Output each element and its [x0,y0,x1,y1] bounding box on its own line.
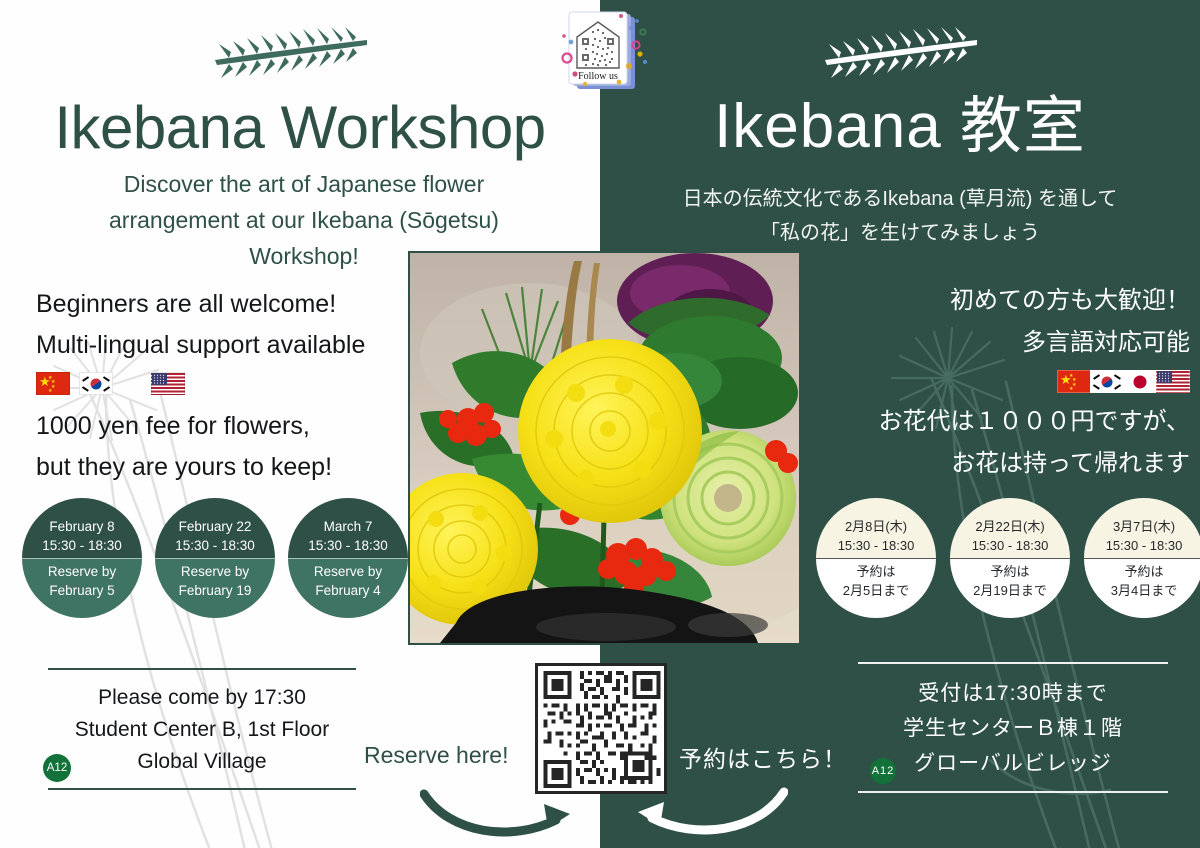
session-circle[interactable]: 2月8日(木)15:30 - 18:30 予約は2月5日まで [816,498,936,618]
session-time: 15:30 - 18:30 [838,536,915,555]
subtitle-line: arrangement at our Ikebana (Sōgetsu) [58,202,550,238]
body-line: Beginners are all welcome! [36,284,416,325]
body-line: Multi-lingual support available [36,325,416,366]
divider [155,558,275,559]
session-deadline-label: 予約は [1124,562,1163,581]
session-deadline: 3月4日まで [1111,581,1177,600]
room-badge: A12 [43,754,71,782]
follow-us-sticker[interactable]: Follow us [561,6,647,98]
fern-leaf-icon [195,14,385,94]
page-title-english: Ikebana Workshop [0,95,600,161]
session-circle[interactable]: March 715:30 - 18:30 Reserve byFebruary … [288,498,408,618]
curved-arrow-icon [628,784,788,842]
footer-line: Global Village [48,746,356,778]
room-badge: A12 [870,758,896,784]
session-circle[interactable]: February 815:30 - 18:30 Reserve byFebrua… [22,498,142,618]
body-line: お花は持って帰れます [790,443,1190,485]
china-flag-icon: ★★★★★ [1057,370,1091,393]
language-flags-japanese: ★★★★★ [790,370,1190,393]
session-deadline-label: 予約は [990,562,1029,581]
divider [22,558,142,559]
session-deadline: 2月19日まで [973,581,1047,600]
japan-flag-icon [1123,370,1157,393]
footer-line: 受付は17:30時まで [858,676,1168,711]
footer-line: グローバルビレッジ [858,746,1168,781]
session-deadline-label: Reserve by [181,562,249,581]
poster: Ikebana Workshop Discover the art of Jap… [0,0,1200,848]
divider [858,791,1168,793]
session-time: 15:30 - 18:30 [1106,536,1183,555]
usa-flag-icon [1156,370,1190,393]
footer-japanese: 受付は17:30時まで 学生センターＢ棟１階 グローバルビレッジ A12 [858,662,1168,793]
session-date: February 22 [179,517,252,536]
session-deadline: February 4 [315,581,380,600]
china-flag-icon: ★★★★★ [36,372,70,395]
footer-line: Student Center B, 1st Floor [48,714,356,746]
curved-arrow-icon [420,786,580,844]
session-deadline: February 19 [179,581,252,600]
body-line: 初めての方も大歓迎！ [790,280,1190,322]
session-deadline-label: Reserve by [48,562,116,581]
session-deadline-label: Reserve by [314,562,382,581]
reserve-here-caption-english: Reserve here! [364,742,508,769]
session-deadline: February 5 [49,581,114,600]
divider [816,558,936,559]
session-time: 15:30 - 18:30 [308,536,388,555]
japan-flag-icon [122,374,142,394]
body-line: 1000 yen fee for flowers, [36,406,416,447]
session-date: March 7 [324,517,373,536]
divider [1084,558,1200,559]
session-date: 3月7日(木) [1113,517,1175,536]
reservation-qr-code[interactable] [535,663,667,794]
body-text-english: Beginners are all welcome! Multi-lingual… [36,284,416,488]
session-time: 15:30 - 18:30 [972,536,1049,555]
page-title-japanese: Ikebana 教室 [600,92,1200,162]
language-flags-english: ★★★★★ [36,372,416,395]
ikebana-arrangement-photo [408,251,801,645]
divider [950,558,1070,559]
footer-line: 学生センターＢ棟１階 [858,711,1168,746]
body-line: 多言語対応可能 [790,322,1190,364]
session-circle[interactable]: 2月22日(木)15:30 - 18:30 予約は2月19日まで [950,498,1070,618]
divider [288,558,408,559]
session-circle[interactable]: 3月7日(木)15:30 - 18:30 予約は3月4日まで [1084,498,1200,618]
subtitle-japanese: 日本の伝統文化であるIkebana (草月流) を通して 「私の花」を生けてみま… [610,182,1190,250]
sticker-label: Follow us [578,71,618,82]
session-list-english: February 815:30 - 18:30 Reserve byFebrua… [22,498,408,618]
reserve-here-caption-japanese: 予約はこちら！ [679,740,847,774]
south-korea-flag-icon [79,372,113,395]
session-circle[interactable]: February 2215:30 - 18:30 Reserve byFebru… [155,498,275,618]
session-date: 2月22日(木) [975,517,1044,536]
body-text-japanese: 初めての方も大歓迎！ 多言語対応可能 ★★★★★ お花代は１０００円ですが、 お… [790,280,1190,485]
session-date: 2月8日(木) [845,517,907,536]
usa-flag-icon [151,372,185,395]
body-line: but they are yours to keep! [36,447,416,488]
south-korea-flag-icon [1090,370,1124,393]
session-date: February 8 [49,517,114,536]
subtitle-line: Discover the art of Japanese flower [58,166,550,202]
fern-leaf-icon [805,14,995,94]
session-time: 15:30 - 18:30 [42,536,122,555]
body-line: お花代は１０００円ですが、 [790,401,1190,443]
subtitle-line: 日本の伝統文化であるIkebana (草月流) を通して [610,182,1190,216]
footer-english: Please come by 17:30 Student Center B, 1… [48,668,356,790]
footer-line: Please come by 17:30 [48,682,356,714]
session-time: 15:30 - 18:30 [175,536,255,555]
subtitle-line: 「私の花」を生けてみましょう [610,216,1190,250]
session-deadline: 2月5日まで [843,581,909,600]
session-list-japanese: 2月8日(木)15:30 - 18:30 予約は2月5日まで 2月22日(木)1… [816,498,1200,618]
session-deadline-label: 予約は [856,562,895,581]
divider [48,788,356,790]
